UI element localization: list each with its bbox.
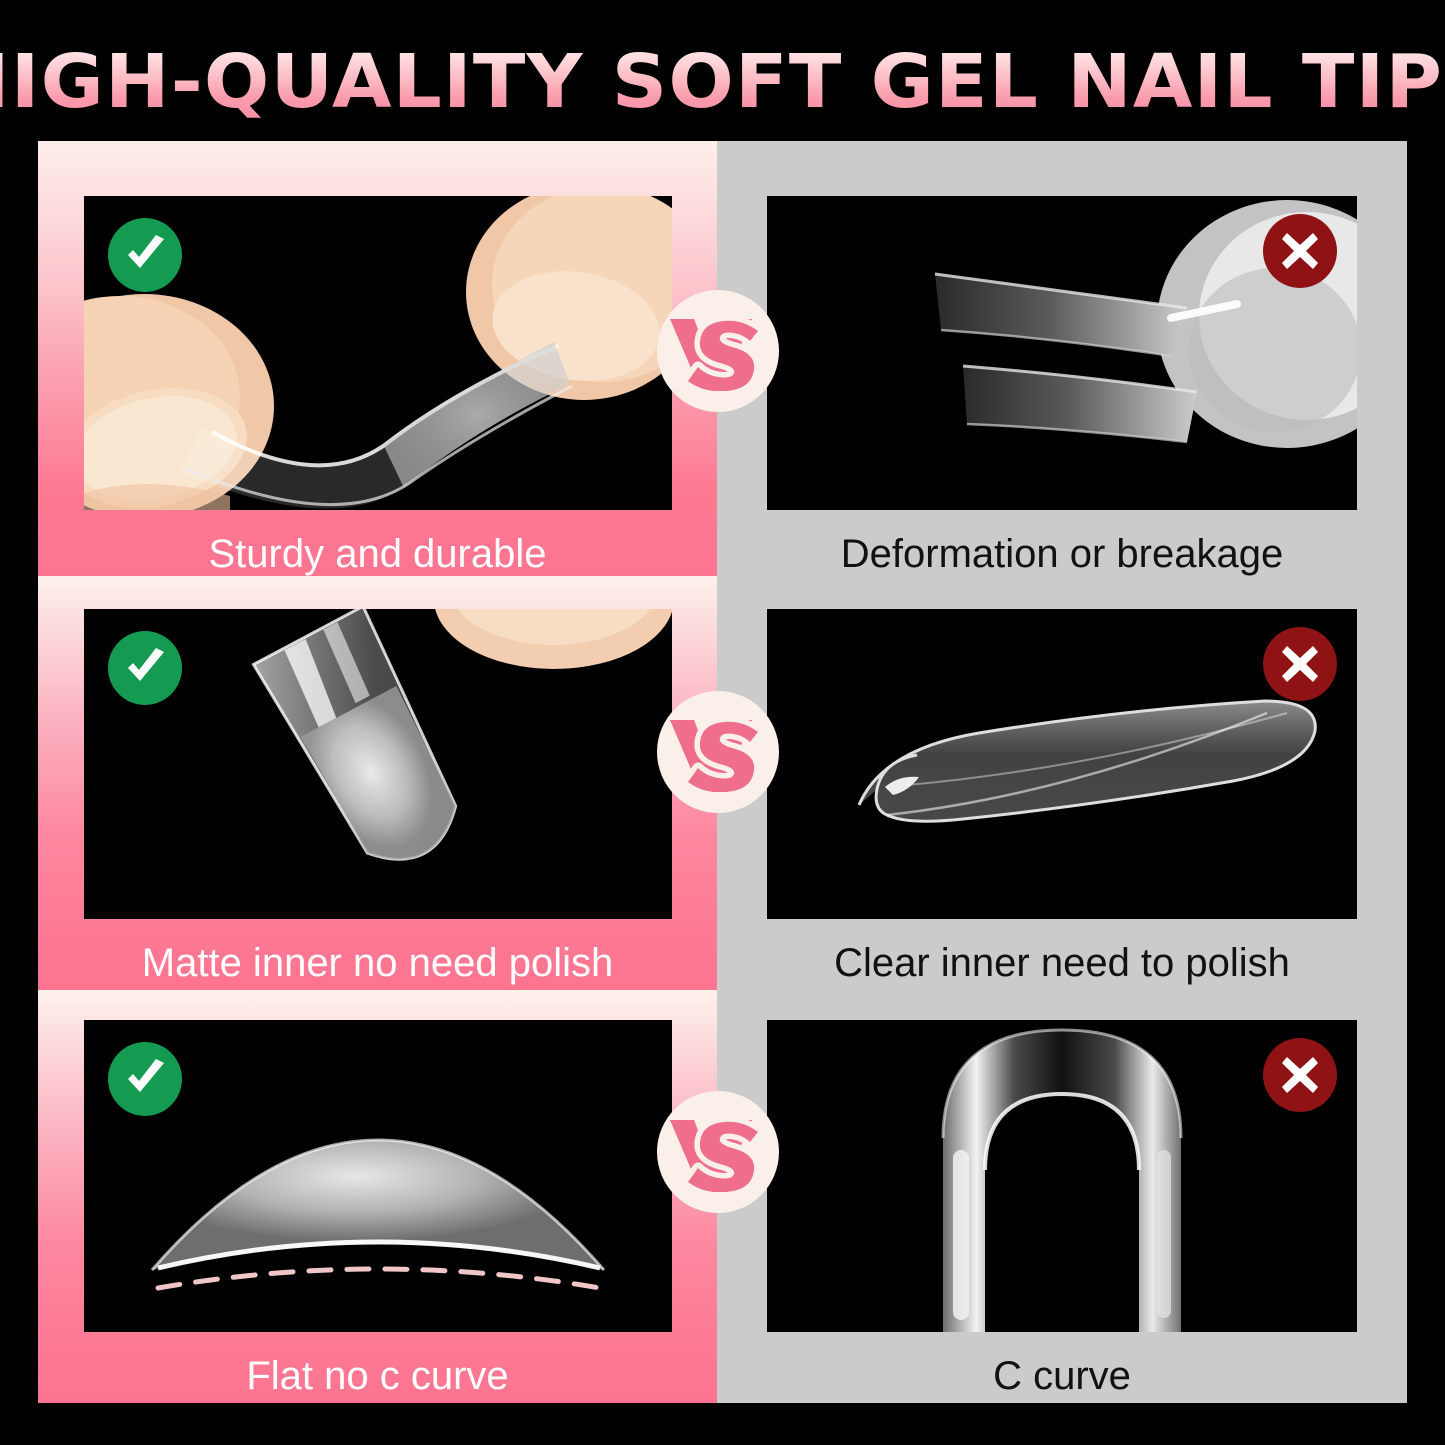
check-icon (108, 631, 182, 705)
page-title: HIGH-QUALITY SOFT GEL NAIL TIPS (0, 39, 1445, 125)
cross-icon (1263, 214, 1337, 288)
bad-caption-3: C curve (993, 1354, 1131, 1398)
cross-icon (1263, 627, 1337, 701)
good-row-2: Matte inner no need polish (38, 576, 717, 990)
good-caption-2: Matte inner no need polish (142, 941, 613, 985)
header: HIGH-QUALITY SOFT GEL NAIL TIPS (0, 34, 1445, 130)
bad-row-2: Clear inner need to polish (717, 576, 1407, 990)
good-column: Sturdy and durable (38, 141, 717, 1403)
good-photo-2 (84, 609, 672, 919)
bad-photo-1 (767, 196, 1357, 510)
bad-column: Deformation or breakage (717, 141, 1407, 1403)
vs-text-icon (666, 1112, 770, 1192)
good-photo-1 (84, 196, 672, 510)
vs-badge-1 (657, 290, 779, 412)
bad-caption-2: Clear inner need to polish (834, 941, 1290, 985)
good-caption-1: Sturdy and durable (208, 532, 546, 576)
bad-caption-1: Deformation or breakage (841, 532, 1283, 576)
vs-badge-3 (657, 1091, 779, 1213)
vs-text-icon (666, 712, 770, 792)
check-icon (108, 218, 182, 292)
good-photo-3 (84, 1020, 672, 1332)
good-row-1: Sturdy and durable (38, 141, 717, 576)
good-caption-3: Flat no c curve (246, 1354, 508, 1398)
bad-photo-3 (767, 1020, 1357, 1332)
vs-badge-2 (657, 691, 779, 813)
bad-row-1: Deformation or breakage (717, 141, 1407, 576)
good-row-3: Flat no c curve (38, 990, 717, 1404)
vs-text-icon (666, 311, 770, 391)
bad-photo-2 (767, 609, 1357, 919)
check-icon (108, 1042, 182, 1116)
cross-icon (1263, 1038, 1337, 1112)
bad-row-3: C curve (717, 990, 1407, 1404)
